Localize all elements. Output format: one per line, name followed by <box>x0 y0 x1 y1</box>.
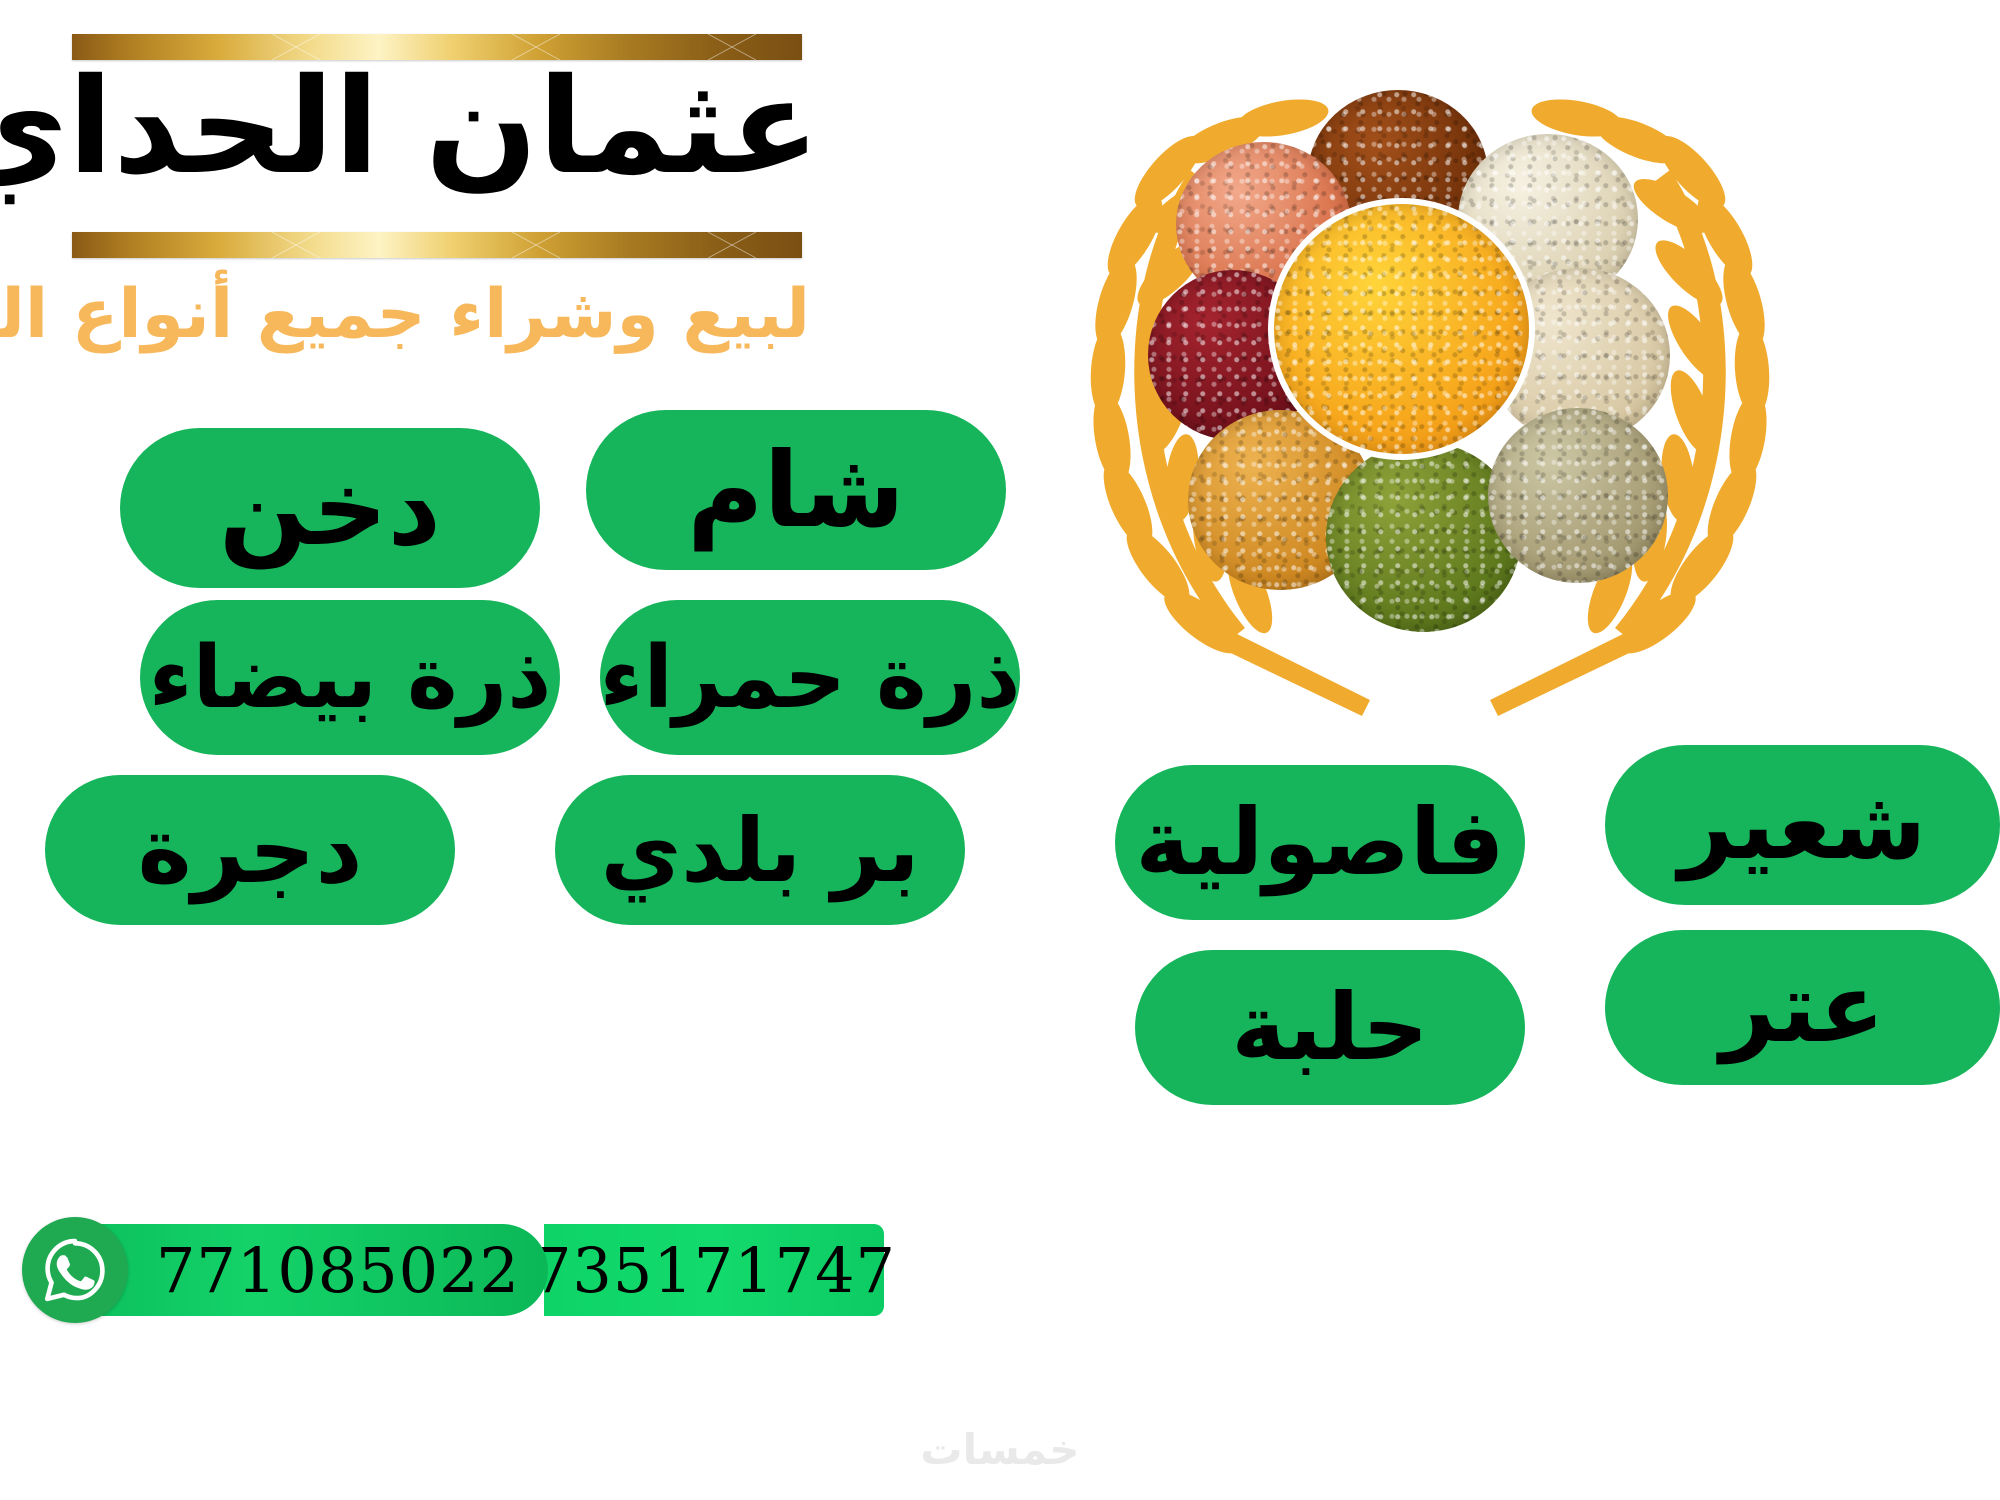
product-pill-label: شعير <box>1679 769 1927 881</box>
product-pill-label: فاصولية <box>1135 789 1504 896</box>
contact-row: 771085022 735171747 <box>22 1215 884 1325</box>
gold-divider-bottom <box>72 232 802 258</box>
product-pill-label: عتر <box>1720 952 1884 1064</box>
phone-number-secondary-text: 735171747 <box>532 1234 896 1307</box>
grain-bowl-yellow-corn <box>1268 198 1535 460</box>
product-pill-atr[interactable]: عتر <box>1605 930 2000 1085</box>
product-pill-dujra[interactable]: دجرة <box>45 775 455 925</box>
page-title: عثمان الحداي <box>60 58 820 197</box>
product-pill-helba[interactable]: حلبة <box>1135 950 1525 1105</box>
grain-bowls-cluster <box>1158 90 1718 650</box>
product-pill-shaeer[interactable]: شعير <box>1605 745 2000 905</box>
product-pill-dukhn[interactable]: دخن <box>120 428 540 588</box>
phone-number-secondary[interactable]: 735171747 <box>544 1224 884 1316</box>
phone-number-primary-text: 771085022 <box>156 1234 520 1307</box>
product-pill-label: شام <box>687 429 905 551</box>
product-pill-label: دجرة <box>137 797 362 904</box>
poster-canvas: عثمان الحداي لبيع وشراء جميع أنواع الحبو… <box>0 0 2000 1500</box>
grain-bowl-lentils <box>1488 408 1668 583</box>
product-pill-white-corn[interactable]: ذرة بيضاء <box>140 600 560 755</box>
product-pill-label: حلبة <box>1231 974 1428 1081</box>
product-pill-label: ذرة بيضاء <box>149 628 552 728</box>
phone-number-primary[interactable]: 771085022 <box>74 1224 548 1316</box>
grains-wreath-illustration <box>1040 40 1820 720</box>
tagline: لبيع وشراء جميع أنواع الحبوب <box>10 272 810 357</box>
product-pill-burr-baladi[interactable]: بر بلدي <box>555 775 965 925</box>
whatsapp-icon[interactable] <box>22 1217 128 1323</box>
product-pill-label: ذرة حمراء <box>600 628 1020 728</box>
product-pill-label: دخن <box>219 447 441 569</box>
product-pill-label: بر بلدي <box>601 799 920 902</box>
product-pill-red-corn[interactable]: ذرة حمراء <box>600 600 1020 755</box>
product-pill-fasoulia[interactable]: فاصولية <box>1115 765 1525 920</box>
watermark: خمسات <box>0 1425 2000 1474</box>
product-pill-sham[interactable]: شام <box>586 410 1006 570</box>
